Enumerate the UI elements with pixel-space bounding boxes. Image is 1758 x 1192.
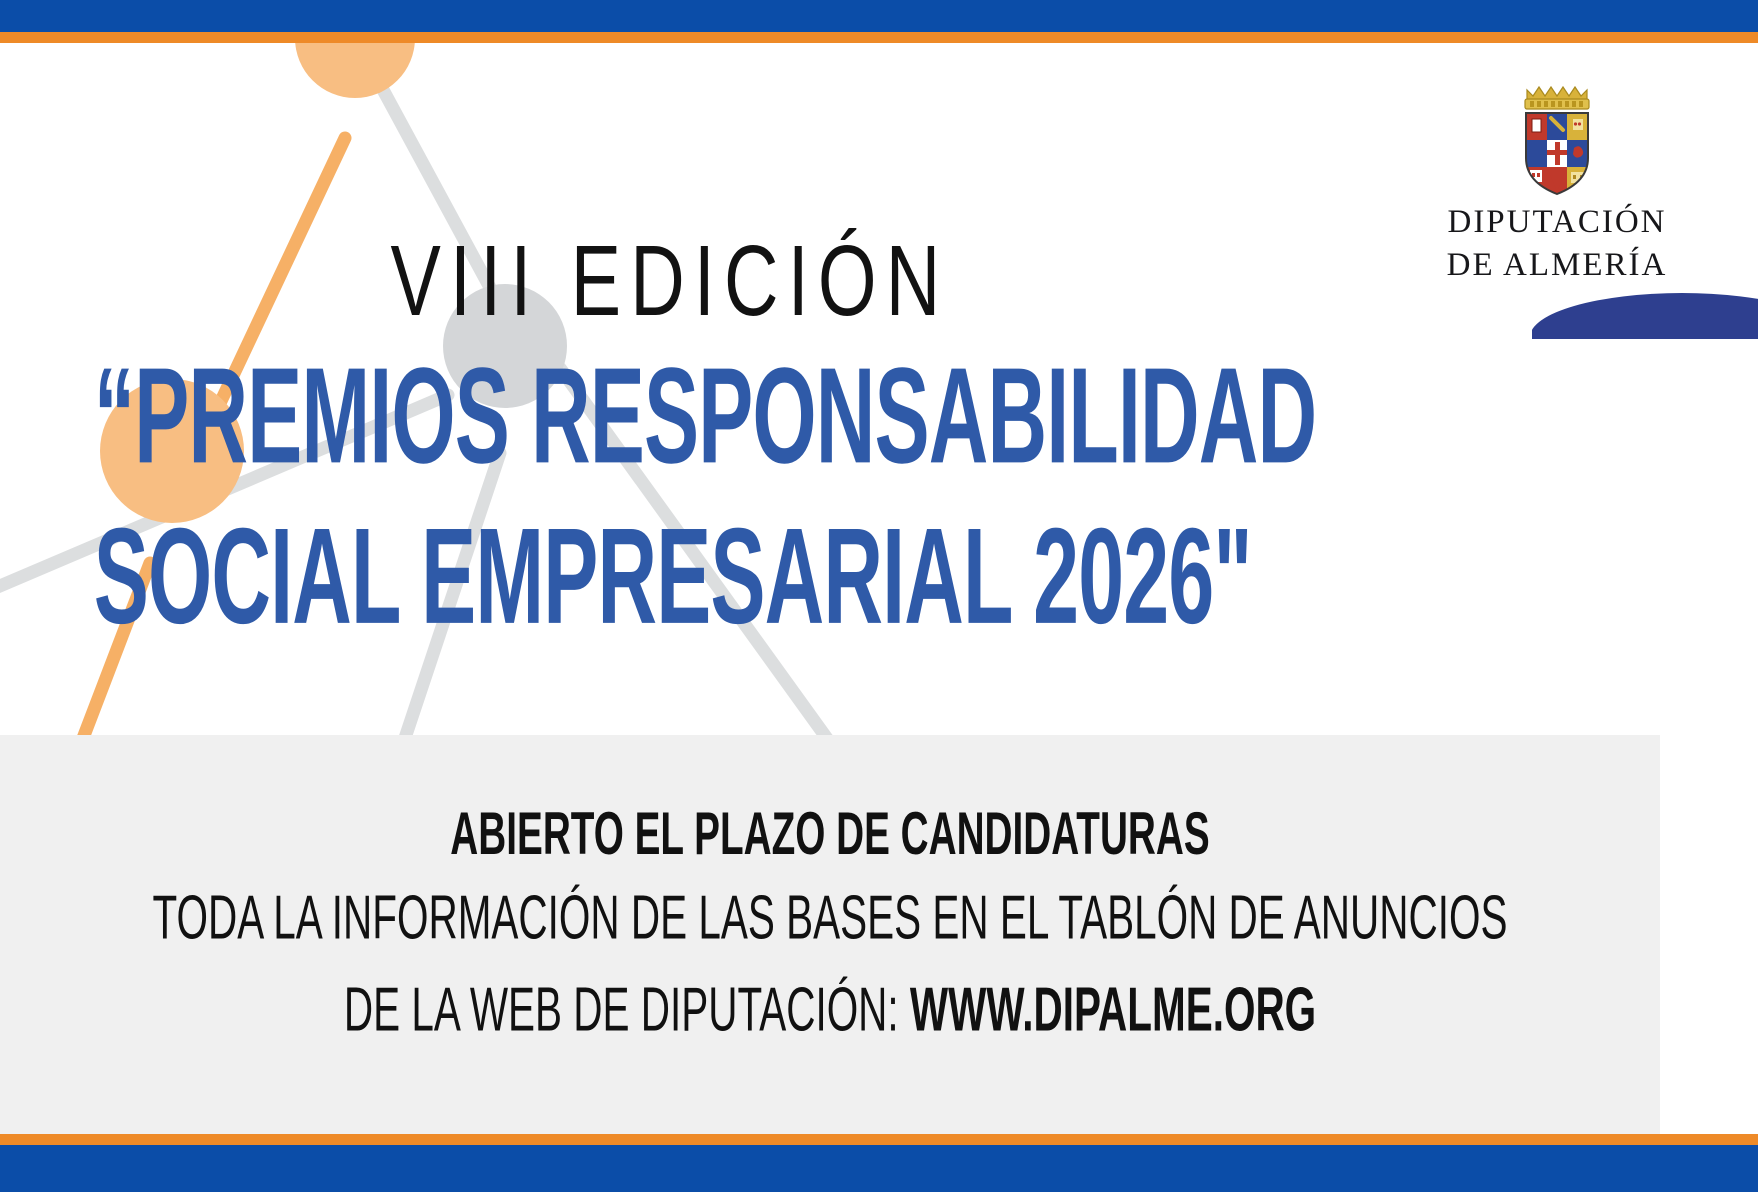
network-node-orange: [295, 43, 415, 98]
info-line-2: DE LA WEB DE DIPUTACIÓN: WWW.DIPALME.ORG: [100, 972, 1561, 1045]
diputacion-logo: DIPUTACIÓN DE ALMERÍA: [1368, 80, 1746, 285]
crown-icon: [1525, 87, 1589, 109]
almeria-coat-of-arms-icon: [1511, 80, 1603, 198]
swoosh-shape: [1532, 259, 1758, 339]
website-url[interactable]: WWW.DIPALME.ORG: [910, 973, 1316, 1044]
award-title-line-1: “PREMIOS RESPONSABILIDAD: [94, 336, 1246, 497]
poster-canvas: DIPUTACIÓN DE ALMERÍA VIII EDICIÓN “PREM…: [0, 0, 1758, 1192]
top-blue-bar: [0, 0, 1758, 32]
info-block: ABIERTO EL PLAZO DE CANDIDATURAS TODA LA…: [0, 800, 1660, 1026]
edition-label: VIII EDICIÓN: [54, 232, 1287, 332]
award-title: “PREMIOS RESPONSABILIDAD SOCIAL EMPRESAR…: [94, 336, 1246, 658]
info-line-2-prefix: DE LA WEB DE DIPUTACIÓN:: [344, 973, 910, 1044]
logo-swoosh: [1532, 259, 1758, 339]
bottom-orange-bar: [0, 1134, 1758, 1145]
bottom-blue-bar: [0, 1145, 1758, 1192]
logo-line-1: DIPUTACIÓN: [1368, 204, 1746, 241]
shield-quarters: [1526, 113, 1588, 197]
info-line-1: TODA LA INFORMACIÓN DE LAS BASES EN EL T…: [100, 880, 1561, 953]
headline-block: VIII EDICIÓN “PREMIOS RESPONSABILIDAD SO…: [0, 232, 1340, 563]
top-orange-bar: [0, 32, 1758, 43]
award-title-line-2: SOCIAL EMPRESARIAL 2026": [94, 497, 1246, 658]
call-to-action-text: ABIERTO EL PLAZO DE CANDIDATURAS: [100, 800, 1561, 869]
